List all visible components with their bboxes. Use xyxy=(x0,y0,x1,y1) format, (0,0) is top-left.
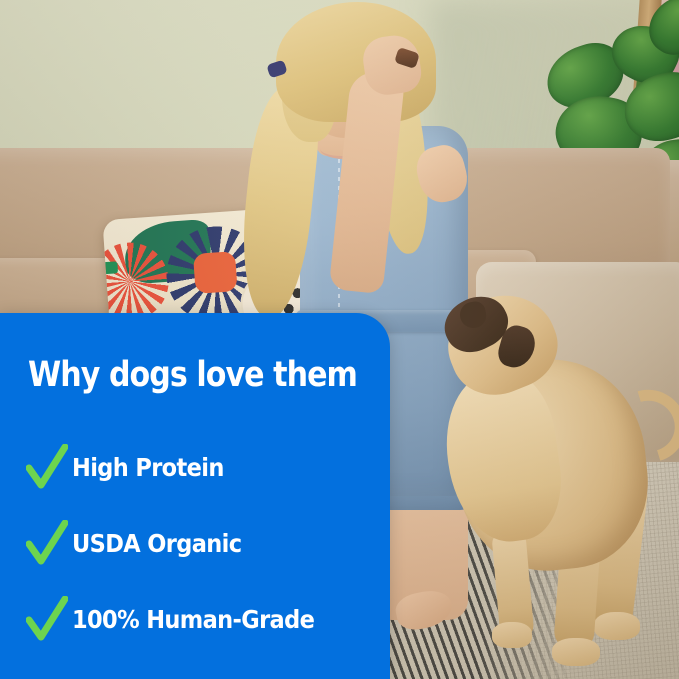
benefit-label: 100% Human-Grade xyxy=(72,605,314,634)
benefit-label: USDA Organic xyxy=(72,529,241,558)
product-lifestyle-image: Why dogs love them High Protein USDA Org… xyxy=(0,0,679,679)
benefits-panel: Why dogs love them High Protein USDA Org… xyxy=(0,313,390,679)
checkmark-icon xyxy=(26,596,72,642)
dog-paw xyxy=(552,638,600,666)
dog-paw xyxy=(594,612,640,640)
checkmark-icon xyxy=(26,520,72,566)
benefit-item: 100% Human-Grade xyxy=(26,581,376,657)
benefit-item: USDA Organic xyxy=(26,505,376,581)
benefits-list: High Protein USDA Organic 100% Human-Gra… xyxy=(26,429,376,657)
benefit-item: High Protein xyxy=(26,429,376,505)
panel-title: Why dogs love them xyxy=(28,355,357,395)
dog-paw xyxy=(492,622,532,648)
checkmark-icon xyxy=(26,444,72,490)
benefit-label: High Protein xyxy=(72,453,224,482)
